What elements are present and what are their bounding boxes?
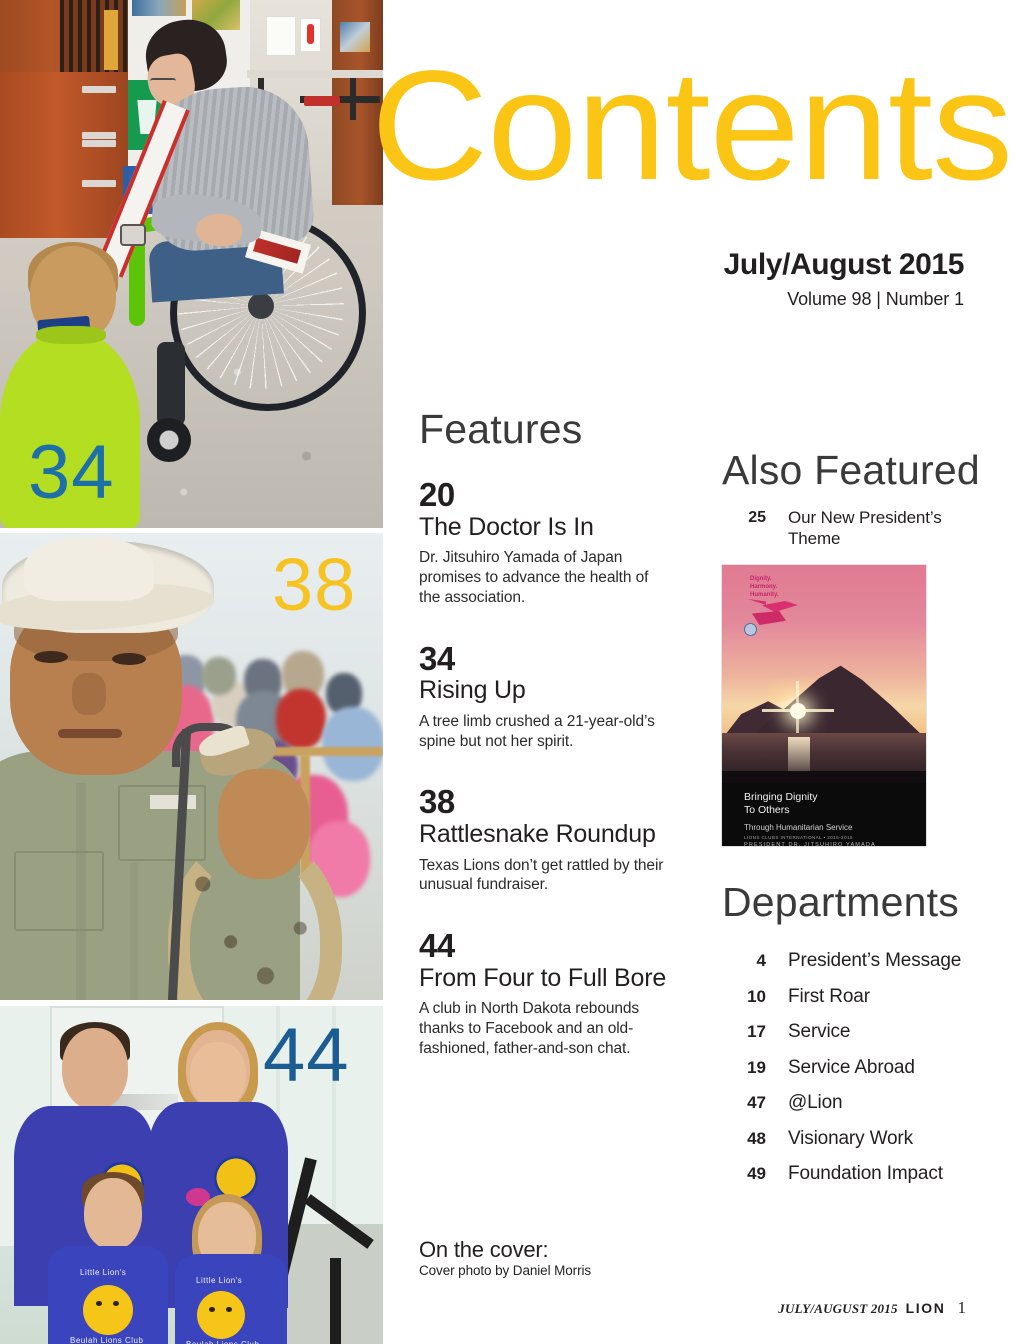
photo-page-number-38[interactable]: 38 xyxy=(272,548,356,622)
department-item[interactable]: 19 Service Abroad xyxy=(718,1057,980,1079)
photo1-traffic-light-poster xyxy=(300,18,321,52)
feature-title: From Four to Full Bore xyxy=(419,964,669,993)
photo3-son-head xyxy=(84,1178,142,1250)
issue-date: July/August 2015 xyxy=(524,248,964,282)
photo1-wall-poster-a xyxy=(132,0,186,16)
lions-emblem-icon xyxy=(744,623,757,636)
feature-page-number: 20 xyxy=(419,478,669,512)
on-the-cover-block: On the cover: Cover photo by Daniel Morr… xyxy=(419,1238,679,1278)
feature-page-number: 34 xyxy=(419,642,669,676)
also-featured-label: Our New President’s Theme xyxy=(766,508,980,549)
page-title: Contents xyxy=(371,52,1012,200)
photo1-paper-notice xyxy=(266,16,296,56)
kid-shirt-top-text: Little Lion's xyxy=(80,1268,126,1277)
department-page-number: 17 xyxy=(718,1022,766,1042)
features-heading: Features xyxy=(419,409,582,450)
photo2-hat-crown xyxy=(24,537,154,601)
department-item[interactable]: 48 Visionary Work xyxy=(718,1128,980,1150)
feature-description: A club in North Dakota rebounds thanks t… xyxy=(419,999,669,1058)
photo1-caster-fork xyxy=(157,342,185,426)
department-page-number: 4 xyxy=(718,951,766,971)
feature-description: Dr. Jitsuhiro Yamada of Japan promises t… xyxy=(419,548,669,607)
department-label: Foundation Impact xyxy=(766,1163,943,1185)
feature-item[interactable]: 38 Rattlesnake Roundup Texas Lions don’t… xyxy=(419,785,669,895)
photo1-drawer-handle xyxy=(82,180,116,187)
kid-shirt-bottom-text: Beulah Lions Club xyxy=(186,1340,259,1344)
feature-page-number: 38 xyxy=(419,785,669,819)
footer-page-number: 1 xyxy=(954,1298,967,1318)
photo2-shirt-pocket xyxy=(14,851,104,931)
photo1-drawer-handle xyxy=(82,140,116,147)
feature-item[interactable]: 20 The Doctor Is In Dr. Jitsuhiro Yamada… xyxy=(419,478,669,608)
feature-page-number: 44 xyxy=(419,929,669,963)
photo1-drawer-handle xyxy=(82,132,116,139)
department-item[interactable]: 10 First Roar xyxy=(718,986,980,1008)
footer-issue-date: JULY/AUGUST 2015 xyxy=(778,1301,897,1317)
feature-description: A tree limb crushed a 21-year-old’s spin… xyxy=(419,712,669,752)
photo1-wristwatch xyxy=(120,224,146,246)
photo1-drawer-handle xyxy=(82,86,116,93)
poster-headline: Bringing Dignity To Others xyxy=(744,791,818,817)
photo-page-number-44[interactable]: 44 xyxy=(263,1018,350,1094)
departments-heading: Departments xyxy=(722,882,959,923)
photo1-woman-hand xyxy=(196,214,242,246)
feature-title: Rattlesnake Roundup xyxy=(419,820,669,849)
department-page-number: 48 xyxy=(718,1129,766,1149)
department-item[interactable]: 49 Foundation Impact xyxy=(718,1163,980,1185)
photo1-woman-glasses xyxy=(150,78,176,86)
kid-shirt-bottom-text: Beulah Lions Club xyxy=(70,1336,143,1344)
feature-title: The Doctor Is In xyxy=(419,513,669,542)
photo2-eye-right xyxy=(112,653,146,665)
department-label: Visionary Work xyxy=(766,1128,913,1150)
poster-headline-line2: To Others xyxy=(744,804,818,817)
photo2-wood-rail xyxy=(260,747,383,756)
feature-item[interactable]: 34 Rising Up A tree limb crushed a 21-ye… xyxy=(419,642,669,752)
departments-list: 4 President’s Message 10 First Roar 17 S… xyxy=(718,950,980,1199)
photo2-nose xyxy=(72,673,106,715)
feature-item[interactable]: 44 From Four to Full Bore A club in Nort… xyxy=(419,929,669,1059)
department-page-number: 10 xyxy=(718,987,766,1007)
department-label: Service Abroad xyxy=(766,1057,915,1079)
photo2-shirt-fold xyxy=(130,863,138,1000)
photo2-mouth xyxy=(58,729,122,738)
also-featured-list: 25 Our New President’s Theme xyxy=(718,508,980,549)
photo1-cafeteria-table xyxy=(247,70,383,78)
photo1-wheel-hub xyxy=(248,293,274,319)
photo-column: Little Lion's Beulah Lions Club Little L… xyxy=(0,0,383,1344)
department-page-number: 47 xyxy=(718,1093,766,1113)
department-label: President’s Message xyxy=(766,950,961,972)
footer-magazine-name: LION xyxy=(906,1300,946,1316)
department-label: Service xyxy=(766,1021,850,1043)
also-featured-item[interactable]: 25 Our New President’s Theme xyxy=(718,508,980,549)
photo1-red-chair xyxy=(304,96,340,106)
cover-photo-credit: Cover photo by Daniel Morris xyxy=(419,1263,679,1278)
poster-org-line: LIONS CLUBS INTERNATIONAL • 2015-2016 xyxy=(744,835,853,840)
feature-description: Texas Lions don’t get rattled by their u… xyxy=(419,856,669,896)
photo1-locker-stripe xyxy=(104,10,118,70)
department-item[interactable]: 17 Service xyxy=(718,1021,980,1043)
poster-headline-line1: Bringing Dignity xyxy=(744,791,818,804)
photo1-boy-collar xyxy=(36,326,106,344)
also-featured-page-number: 25 xyxy=(718,508,766,528)
photo3-mother-face xyxy=(190,1042,246,1108)
department-label: @Lion xyxy=(766,1092,842,1114)
photo1-photo-poster xyxy=(340,22,370,52)
poster-subhead: Through Humanitarian Service xyxy=(744,823,853,832)
feature-title: Rising Up xyxy=(419,676,669,705)
photo2-name-badge xyxy=(150,795,196,809)
poster-sun xyxy=(790,703,806,719)
features-list: 20 The Doctor Is In Dr. Jitsuhiro Yamada… xyxy=(419,478,669,1085)
president-theme-poster[interactable]: Dignity. Harmony. Humanity. Bringing Dig… xyxy=(722,565,926,846)
little-lion-face-logo xyxy=(200,1294,242,1336)
photo3-railing xyxy=(330,1258,341,1344)
page-footer: JULY/AUGUST 2015 LION 1 xyxy=(778,1298,966,1318)
photo3-father-head xyxy=(62,1028,128,1110)
department-item[interactable]: 4 President’s Message xyxy=(718,950,980,972)
issue-volume-number: Volume 98 | Number 1 xyxy=(524,289,964,310)
also-featured-heading: Also Featured xyxy=(722,450,980,491)
photo2-mans-hand xyxy=(218,769,310,879)
department-item[interactable]: 47 @Lion xyxy=(718,1092,980,1114)
little-lion-face-logo xyxy=(86,1288,130,1332)
photo1-file-cabinet xyxy=(0,72,128,238)
photo2-eye-left xyxy=(34,651,68,663)
department-page-number: 19 xyxy=(718,1058,766,1078)
on-the-cover-heading: On the cover: xyxy=(419,1238,679,1262)
kid-shirt-top-text: Little Lion's xyxy=(196,1276,242,1285)
department-label: First Roar xyxy=(766,986,870,1008)
photo1-caster-wheel xyxy=(147,418,191,462)
department-page-number: 49 xyxy=(718,1164,766,1184)
magazine-contents-page: Little Lion's Beulah Lions Club Little L… xyxy=(0,0,1024,1344)
lions-club-emblem xyxy=(214,1156,258,1200)
photo-page-number-34[interactable]: 34 xyxy=(28,435,115,511)
poster-president-line: PRESIDENT DR. JITSUHIRO YAMADA xyxy=(744,842,876,846)
